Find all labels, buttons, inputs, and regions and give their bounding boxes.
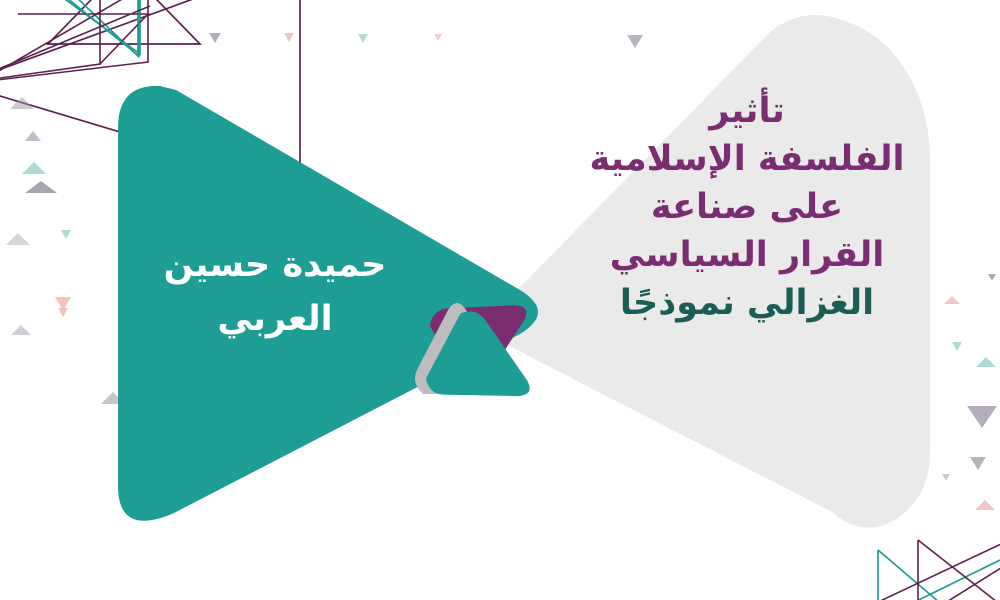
title-line-1: تأثير [582, 88, 912, 136]
author-name: حميدة حسين العربي [130, 238, 420, 347]
title-line-2: الفلسفة الإسلامية [582, 136, 912, 184]
author-line-1: حميدة حسين [130, 238, 420, 292]
title-line-5: الغزالي نموذجًا [582, 280, 912, 328]
title-line-3: على صناعة [582, 184, 912, 232]
title-line-4: القرار السياسي [582, 232, 912, 280]
presentation-title: تأثير الفلسفة الإسلامية على صناعة القرار… [582, 88, 912, 328]
slide-canvas: حميدة حسين العربي تأثير الفلسفة الإسلامي… [0, 0, 1000, 600]
author-line-2: العربي [130, 292, 420, 346]
